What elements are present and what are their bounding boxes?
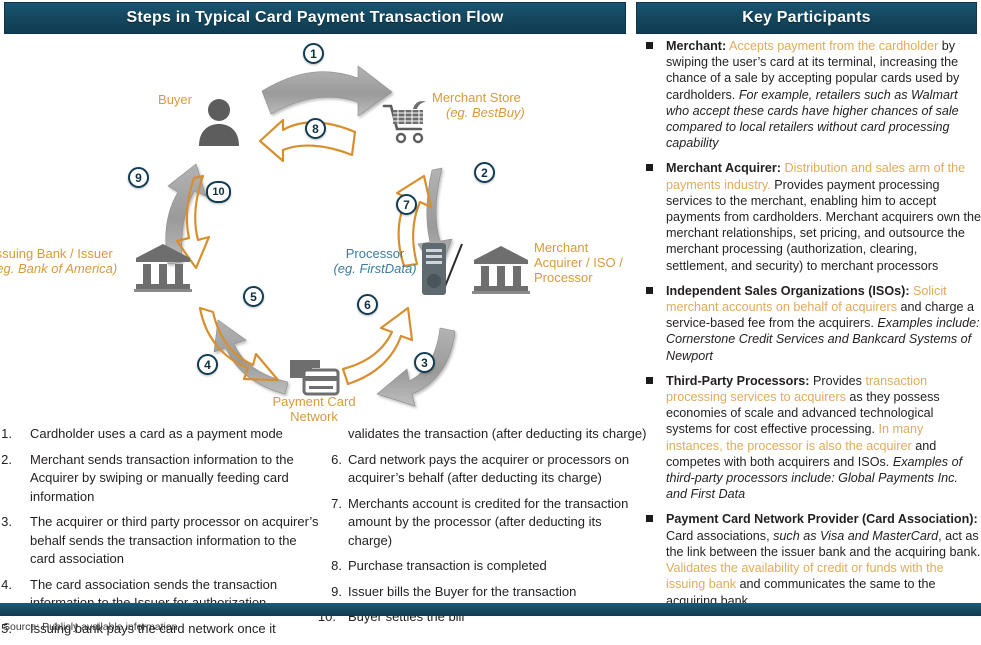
- participant-isos-title: Independent Sales Organizations (ISOs):: [666, 284, 910, 298]
- person-icon: [196, 96, 242, 148]
- participant-merchant-title: Merchant:: [666, 39, 726, 53]
- step-number-9: 9.: [318, 583, 342, 602]
- step-item-2: 2. Merchant sends transaction informatio…: [0, 451, 320, 507]
- node-label-processor: Processor (eg. FirstData): [330, 246, 420, 276]
- bullet-icon: [646, 515, 653, 522]
- payment-card-network-label-text: Payment Card Network: [272, 394, 355, 424]
- right-panel-header: Key Participants: [636, 2, 977, 34]
- issuing-bank-sublabel: (eg. Bank of America): [0, 261, 117, 276]
- step-number-2: 2.: [0, 451, 12, 470]
- issuing-bank-label-text: Issuing Bank / Issuer: [0, 246, 113, 261]
- step-text-6: Card network pays the acquirer or proces…: [348, 452, 629, 486]
- left-panel-header: Steps in Typical Card Payment Transactio…: [4, 2, 626, 34]
- node-label-merchant-acquirer: Merchant Acquirer / ISO / Processor: [534, 240, 630, 285]
- server-icon: [418, 241, 450, 297]
- node-label-buyer: Buyer: [122, 92, 192, 107]
- node-label-merchant-store: Merchant Store (eg. BestBuy): [432, 90, 562, 120]
- step-badge-8: 8: [305, 118, 326, 139]
- node-label-issuing-bank: Issuing Bank / Issuer (eg. Bank of Ameri…: [0, 246, 132, 276]
- step-item-7: 7. Merchants account is credited for the…: [318, 495, 648, 551]
- step-number-1: 1.: [0, 425, 12, 444]
- step-item-6: 6. Card network pays the acquirer or pro…: [318, 451, 648, 488]
- participant-third-party-processors: Third-Party Processors: Provides transac…: [636, 373, 981, 503]
- bullet-icon: [646, 42, 653, 49]
- step-number-7: 7.: [318, 495, 342, 514]
- participant-isos: Independent Sales Organizations (ISOs): …: [636, 283, 981, 364]
- participant-text-fragment: Card associations,: [666, 529, 773, 543]
- bullet-icon: [646, 287, 653, 294]
- node-label-payment-card-network: Payment Card Network: [258, 394, 370, 424]
- participant-payment-card-network-provider-title: Payment Card Network Provider (Card Asso…: [666, 512, 978, 526]
- merchant-store-sublabel: (eg. BestBuy): [432, 105, 525, 120]
- merchant-store-label-text: Merchant Store: [432, 90, 521, 105]
- participant-third-party-processors-title: Third-Party Processors:: [666, 374, 809, 388]
- step-badge-1: 1: [303, 43, 324, 64]
- shopping-cart-icon: [380, 98, 430, 146]
- step-item-3: 3. The acquirer or third party processor…: [0, 513, 320, 569]
- participant-text-fragment: such as Visa and MasterCard: [773, 529, 938, 543]
- step-text-9: Issuer bills the Buyer for the transacti…: [348, 584, 576, 599]
- step-item-9: 9. Issuer bills the Buyer for the transa…: [318, 583, 648, 602]
- bullet-icon: [646, 377, 653, 384]
- step-text-7: Merchants account is credited for the tr…: [348, 496, 628, 548]
- arrow-step-6: [343, 308, 412, 384]
- step-item-8: 8. Purchase transaction is completed: [318, 557, 648, 576]
- step-badge-6: 6: [357, 294, 378, 315]
- credit-card-icon: [286, 354, 342, 398]
- step-badge-4: 4: [197, 354, 218, 375]
- merchant-acquirer-label-text: Merchant Acquirer / ISO / Processor: [534, 240, 623, 285]
- step-badge-5: 5: [243, 286, 264, 307]
- step-badge-9: 9: [128, 167, 149, 188]
- step-badge-7: 7: [396, 194, 417, 215]
- footer-bar: [0, 603, 981, 616]
- transaction-steps-list: 1. Cardholder uses a card as a payment m…: [0, 425, 640, 610]
- arrow-step-4: [214, 320, 288, 394]
- participant-text-fragment: Provides: [809, 374, 865, 388]
- bank-icon-issuer: [134, 242, 192, 294]
- step-badge-2: 2: [474, 162, 495, 183]
- step-item-1: 1. Cardholder uses a card as a payment m…: [0, 425, 320, 444]
- step-number-4: 4.: [0, 576, 12, 595]
- key-participants-list: Merchant: Accepts payment from the cardh…: [636, 38, 981, 608]
- processor-label-text: Processor: [346, 246, 405, 261]
- step-badge-3: 3: [414, 352, 435, 373]
- participant-merchant: Merchant: Accepts payment from the cardh…: [636, 38, 981, 151]
- participant-payment-card-network-provider: Payment Card Network Provider (Card Asso…: [636, 511, 981, 608]
- participant-merchant-acquirer: Merchant Acquirer: Distribution and sale…: [636, 160, 981, 273]
- step-number-3: 3.: [0, 513, 12, 532]
- step-badge-10: 10: [206, 181, 231, 203]
- arrow-step-1: [262, 66, 392, 116]
- step-text-3: The acquirer or third party processor on…: [30, 514, 319, 566]
- participant-merchant-acquirer-title: Merchant Acquirer:: [666, 161, 781, 175]
- bullet-icon: [646, 164, 653, 171]
- source-note: Source: Publicly available information: [3, 621, 178, 633]
- step-number-8: 8.: [318, 557, 342, 576]
- left-panel-title: Steps in Typical Card Payment Transactio…: [127, 9, 504, 27]
- step-text-2: Merchant sends transaction information t…: [30, 452, 294, 504]
- bank-icon-acquirer: [472, 244, 530, 296]
- buyer-label-text: Buyer: [158, 92, 192, 107]
- right-panel-title: Key Participants: [742, 9, 871, 27]
- payment-flow-diagram: Buyer Merchant Store (eg. BestBuy) Merch…: [0, 36, 630, 426]
- step-text-1: Cardholder uses a card as a payment mode: [30, 426, 283, 441]
- step-number-6: 6.: [318, 451, 342, 470]
- participant-text-fragment: Accepts payment from the cardholder: [726, 39, 938, 53]
- step-text-5-continuation: validates the transaction (after deducti…: [318, 425, 648, 444]
- processor-sublabel: (eg. FirstData): [333, 261, 416, 276]
- step-text-8: Purchase transaction is completed: [348, 558, 547, 573]
